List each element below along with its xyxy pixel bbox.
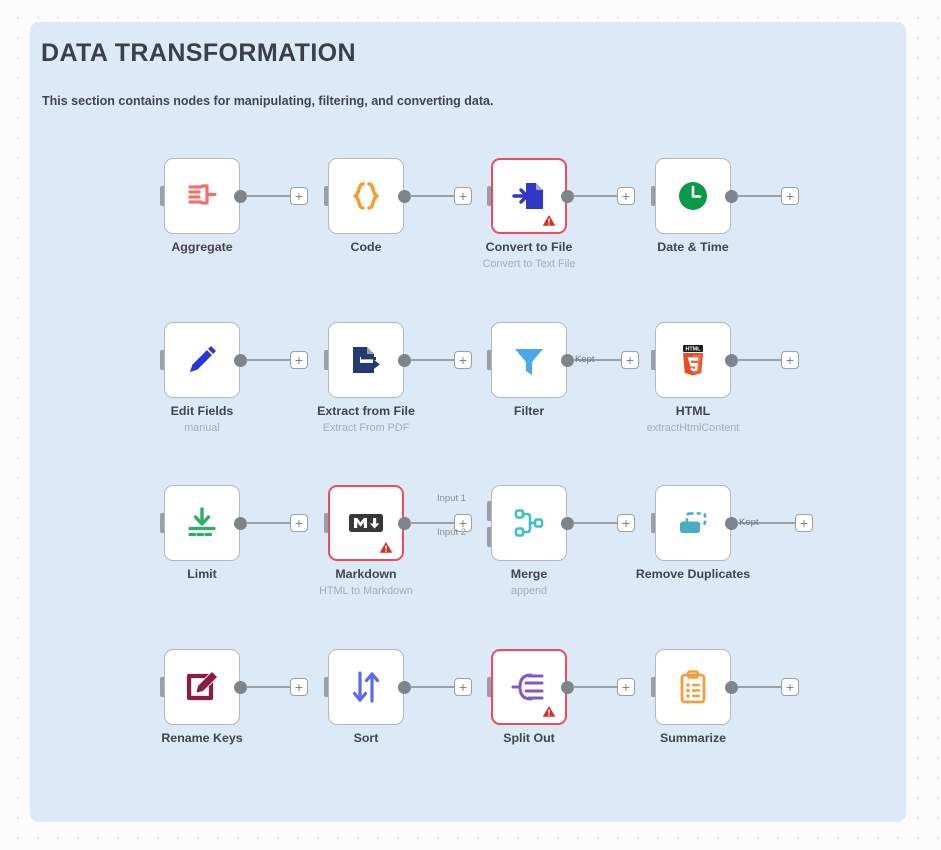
node-box[interactable] bbox=[164, 485, 240, 561]
node-box[interactable] bbox=[491, 322, 567, 398]
connector-line bbox=[246, 686, 290, 688]
node-title: Sort bbox=[276, 731, 456, 745]
connector-line bbox=[573, 195, 617, 197]
connector-label: Kept bbox=[739, 517, 759, 528]
node-title: Summarize bbox=[603, 731, 783, 745]
node-box[interactable] bbox=[328, 158, 404, 234]
connector-label: Kept bbox=[575, 354, 595, 365]
warning-icon bbox=[547, 217, 561, 230]
plus-icon: + bbox=[295, 189, 303, 203]
add-node-button[interactable]: + bbox=[621, 351, 639, 369]
connector-line bbox=[246, 195, 290, 197]
plus-icon: + bbox=[622, 516, 630, 530]
node-box[interactable] bbox=[655, 649, 731, 725]
node-title: Remove Duplicates bbox=[603, 567, 783, 581]
plus-icon: + bbox=[786, 353, 794, 367]
limit-icon bbox=[182, 503, 222, 543]
connector-line bbox=[246, 359, 290, 361]
input-port-label: Input 2 bbox=[437, 527, 466, 538]
node-box[interactable] bbox=[328, 485, 404, 561]
node-box[interactable] bbox=[164, 649, 240, 725]
connector-line bbox=[246, 522, 290, 524]
connector-line bbox=[410, 359, 454, 361]
warning-icon bbox=[384, 544, 398, 557]
sort-arrows-icon bbox=[346, 667, 386, 707]
summarize-icon bbox=[673, 667, 713, 707]
aggregate-icon bbox=[182, 176, 222, 216]
plus-icon: + bbox=[459, 353, 467, 367]
convert-to-file-icon bbox=[509, 176, 549, 216]
node-title: Extract from File bbox=[276, 404, 456, 418]
node-title: HTML bbox=[603, 404, 783, 418]
node-box[interactable] bbox=[491, 158, 567, 234]
funnel-icon bbox=[509, 340, 549, 380]
connector-line bbox=[410, 522, 454, 524]
code-braces-icon bbox=[346, 176, 386, 216]
node-title: Split Out bbox=[439, 731, 619, 745]
add-node-button[interactable]: + bbox=[617, 678, 635, 696]
node-title: Convert to File bbox=[439, 240, 619, 254]
plus-icon: + bbox=[626, 353, 634, 367]
plus-icon: + bbox=[459, 680, 467, 694]
add-node-button[interactable]: + bbox=[795, 514, 813, 532]
node-subtitle: Convert to Text File bbox=[439, 258, 619, 270]
input-port-label: Input 1 bbox=[437, 493, 466, 504]
node-subtitle: Extract From PDF bbox=[276, 422, 456, 434]
remove-duplicates-icon bbox=[673, 503, 713, 543]
add-node-button[interactable]: + bbox=[290, 351, 308, 369]
node-graph: +Aggregate +Code +Convert to FileConvert… bbox=[0, 0, 941, 850]
merge-icon bbox=[509, 503, 549, 543]
add-node-button[interactable]: + bbox=[781, 187, 799, 205]
plus-icon: + bbox=[786, 189, 794, 203]
plus-icon: + bbox=[800, 516, 808, 530]
node-title: Edit Fields bbox=[112, 404, 292, 418]
clock-icon bbox=[673, 176, 713, 216]
add-node-button[interactable]: + bbox=[781, 678, 799, 696]
node-title: Markdown bbox=[276, 567, 456, 581]
connector-line bbox=[737, 686, 781, 688]
connector-line bbox=[737, 195, 781, 197]
pencil-icon bbox=[182, 340, 222, 380]
add-node-button[interactable]: + bbox=[454, 678, 472, 696]
node-box[interactable] bbox=[491, 649, 567, 725]
node-title: Limit bbox=[112, 567, 292, 581]
node-box[interactable] bbox=[655, 485, 731, 561]
svg-text:HTML: HTML bbox=[686, 347, 702, 353]
add-node-button[interactable]: + bbox=[290, 514, 308, 532]
connector-line bbox=[737, 359, 781, 361]
node-title: Merge bbox=[439, 567, 619, 581]
add-node-button[interactable]: + bbox=[617, 514, 635, 532]
node-box[interactable] bbox=[328, 322, 404, 398]
rename-keys-icon bbox=[182, 667, 222, 707]
node-box[interactable] bbox=[164, 158, 240, 234]
node-box[interactable] bbox=[491, 485, 567, 561]
split-out-icon bbox=[509, 667, 549, 707]
node-title: Aggregate bbox=[112, 240, 292, 254]
plus-icon: + bbox=[295, 353, 303, 367]
add-node-button[interactable]: + bbox=[290, 187, 308, 205]
add-node-button[interactable]: + bbox=[454, 187, 472, 205]
plus-icon: + bbox=[622, 680, 630, 694]
connector-line bbox=[410, 195, 454, 197]
node-box[interactable] bbox=[328, 649, 404, 725]
node-title: Code bbox=[276, 240, 456, 254]
node-title: Filter bbox=[439, 404, 619, 418]
connector-line bbox=[410, 686, 454, 688]
markdown-icon bbox=[346, 503, 386, 543]
plus-icon: + bbox=[295, 516, 303, 530]
node-subtitle: extractHtmlContent bbox=[603, 422, 783, 434]
plus-icon: + bbox=[786, 680, 794, 694]
add-node-button[interactable]: + bbox=[290, 678, 308, 696]
node-subtitle: HTML to Markdown bbox=[276, 585, 456, 597]
add-node-button[interactable]: + bbox=[617, 187, 635, 205]
node-title: Date & Time bbox=[603, 240, 783, 254]
extract-from-file-icon bbox=[346, 340, 386, 380]
warning-icon bbox=[547, 708, 561, 721]
node-box[interactable]: HTML bbox=[655, 322, 731, 398]
node-box[interactable] bbox=[655, 158, 731, 234]
add-node-button[interactable]: + bbox=[454, 351, 472, 369]
connector-line bbox=[573, 522, 617, 524]
plus-icon: + bbox=[622, 189, 630, 203]
html5-icon: HTML bbox=[673, 340, 713, 380]
node-subtitle: manual bbox=[112, 422, 292, 434]
plus-icon: + bbox=[295, 680, 303, 694]
connector-line bbox=[573, 686, 617, 688]
node-title: Rename Keys bbox=[112, 731, 292, 745]
plus-icon: + bbox=[459, 189, 467, 203]
node-box[interactable] bbox=[164, 322, 240, 398]
node-subtitle: append bbox=[439, 585, 619, 597]
add-node-button[interactable]: + bbox=[781, 351, 799, 369]
